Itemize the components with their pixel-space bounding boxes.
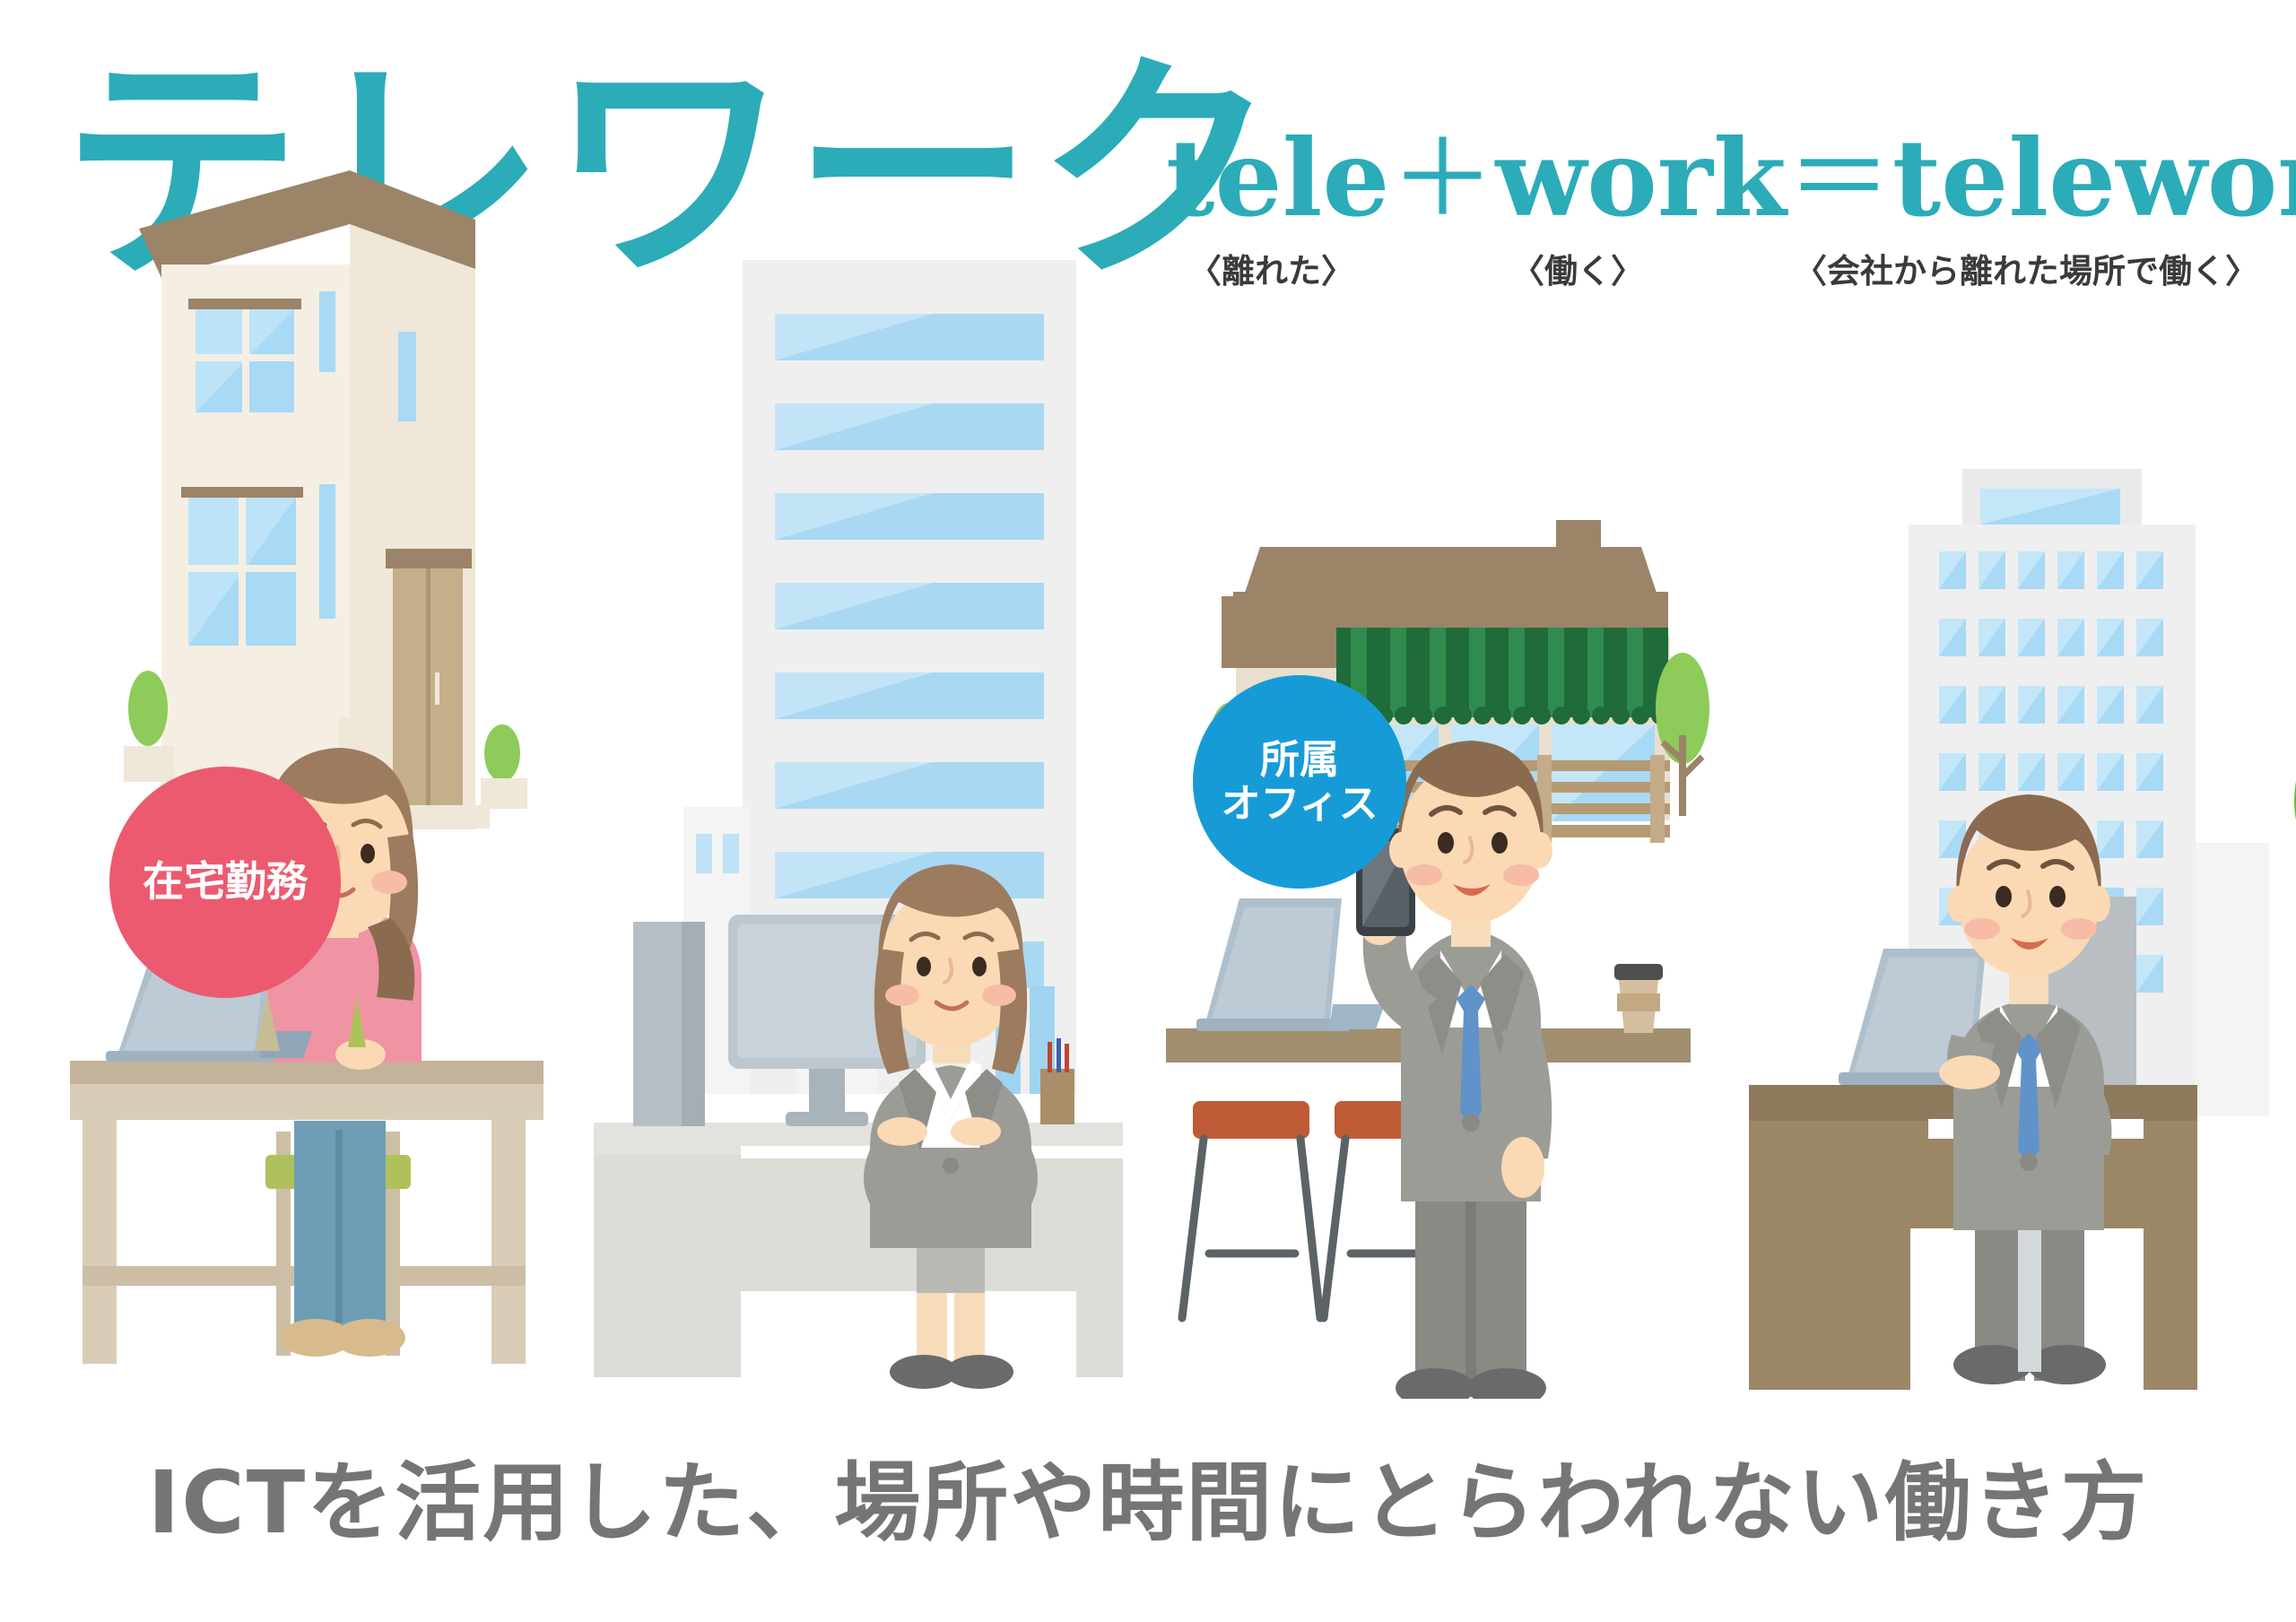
coffee-cup — [1614, 964, 1663, 1033]
office-desk — [594, 1123, 1123, 1377]
badge-main-office-line2: オフィス — [1221, 782, 1378, 826]
house-illustration — [124, 170, 527, 829]
badge-main-office-line1: 所属 — [1260, 738, 1339, 782]
scene-office-illustration — [574, 0, 1148, 1399]
badge-home-work-label: 在宅勤務 — [143, 859, 308, 906]
scene-main-office: 所属 オフィス — [574, 0, 1148, 1399]
badge-home-work[interactable]: 在宅勤務 — [109, 767, 341, 998]
scene-home-work: 在宅勤務 — [54, 0, 592, 1399]
cafe-awning — [1335, 628, 1669, 724]
satellite-worker-person — [1939, 794, 2111, 1384]
telework-infographic: テレワーク tele＋work＝telework 〈離れた〉 〈働く〉 〈会社か… — [0, 0, 2296, 1622]
office-worker-person — [864, 864, 1038, 1389]
footer-caption: ICTを活用した、場所や時間にとらわれない働き方 — [0, 1433, 2296, 1557]
scene-satellite-illustration — [1749, 0, 2296, 1399]
scene-home-illustration — [54, 0, 592, 1399]
scene-satellite-office: サテライト オフィス勤務 — [1749, 0, 2296, 1399]
badge-main-office[interactable]: 所属 オフィス — [1193, 675, 1406, 889]
